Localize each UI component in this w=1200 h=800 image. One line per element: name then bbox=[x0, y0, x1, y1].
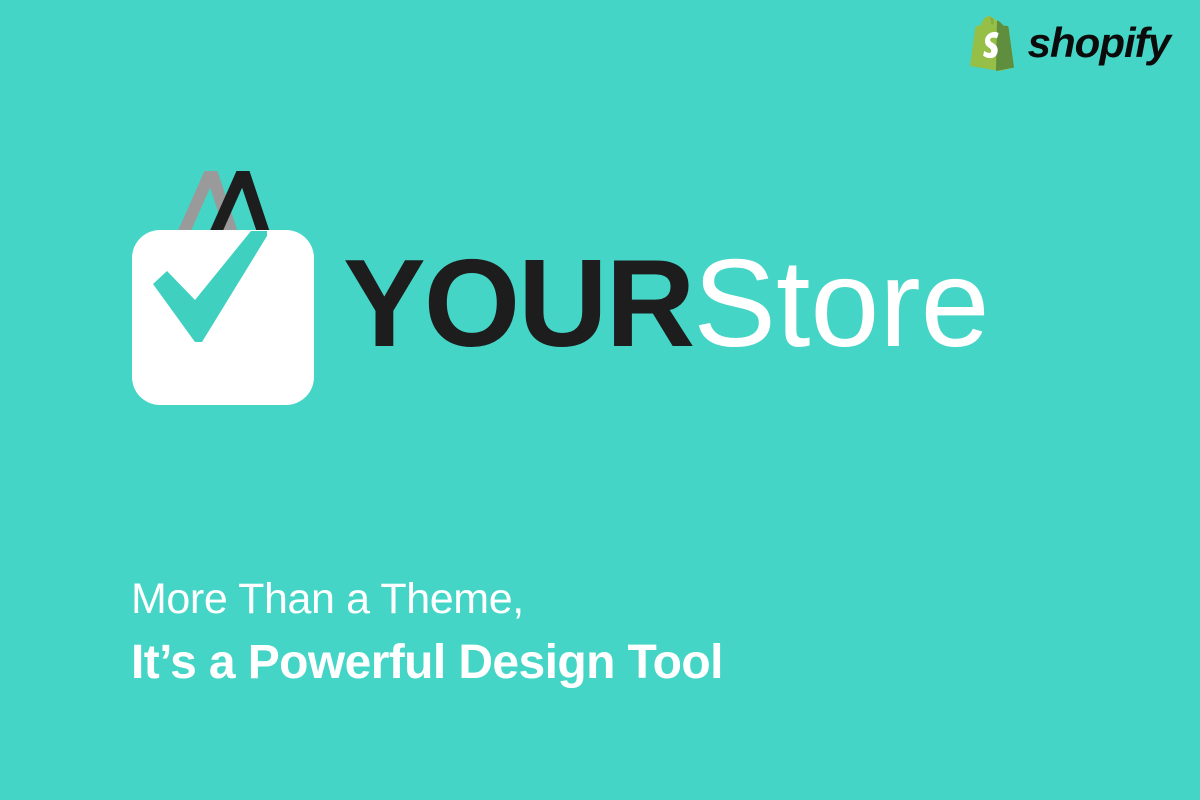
tagline: More Than a Theme, It’s a Powerful Desig… bbox=[131, 578, 723, 687]
tagline-line-2: It’s a Powerful Design Tool bbox=[131, 639, 723, 687]
tagline-line-1: More Than a Theme, bbox=[131, 578, 723, 621]
brand-wordmark: YOURStore bbox=[343, 242, 990, 366]
wordmark-your: YOUR bbox=[343, 235, 693, 373]
shopify-bag-icon bbox=[966, 14, 1018, 72]
shopify-wordmark: shopify bbox=[1028, 22, 1170, 64]
bag-body bbox=[132, 230, 314, 405]
shopping-bag-check-icon bbox=[131, 160, 315, 406]
wordmark-store: Store bbox=[693, 235, 989, 373]
slide-canvas: shopify YO bbox=[0, 0, 1200, 800]
brand-lockup: YOURStore bbox=[131, 160, 990, 406]
shopify-badge: shopify bbox=[966, 14, 1170, 72]
